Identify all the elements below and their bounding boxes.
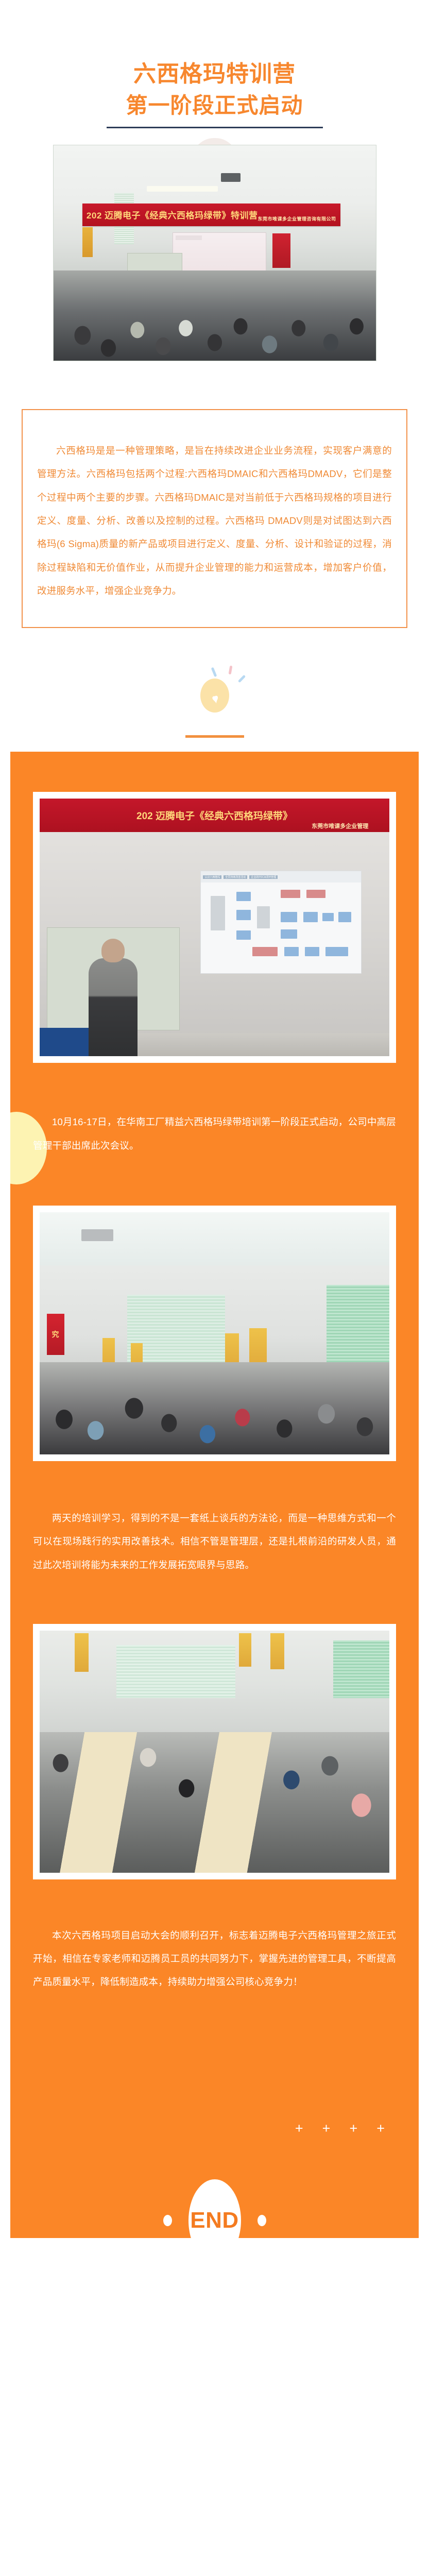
wall-poster <box>239 1633 251 1667</box>
sparkle-icon <box>238 675 246 683</box>
photo-4-frame <box>33 1624 396 1879</box>
banner-sub-text: 东莞市唯课多企业管理咨询有限公司 <box>258 215 336 222</box>
flow-node <box>252 947 278 956</box>
divider-rule <box>185 735 244 738</box>
presenter-figure <box>89 958 138 1056</box>
presenter-slide-photo: 202 迈腾电子《经典六西格玛绿带》 东莞市唯课多企业管理 认识六西格玛 全员持… <box>40 799 389 1056</box>
wall-poster <box>270 1633 284 1670</box>
window <box>116 1645 235 1698</box>
flow-node <box>257 906 270 929</box>
hero-header: 六西格玛特训营 第一阶段正式启动 <box>0 0 429 135</box>
end-badge: END <box>188 2179 241 2238</box>
audience-seats <box>40 1362 389 1454</box>
plus-icon: + <box>322 2122 331 2136</box>
poster-text: 究 <box>52 1329 59 1340</box>
intro-paragraph: 六西格玛是是一种管理策略，是旨在持续改进企业业务流程，实现客户满意的管理方法。六… <box>37 439 392 602</box>
audience-seats <box>54 270 376 361</box>
flow-node <box>236 930 251 940</box>
classroom-wide-photo: 202 迈腾电子《经典六西格玛绿带》特训营 东莞市唯课多企业管理咨询有限公司 <box>53 145 376 361</box>
flow-node <box>281 912 297 922</box>
flow-node <box>305 947 319 956</box>
body-paragraph-3: 本次六西格玛项目启动大会的顺利召开，标志着迈腾电子六西格玛管理之旅正式开始，相信… <box>33 1924 396 1994</box>
flow-node <box>303 912 318 922</box>
window-blinds <box>327 1285 389 1367</box>
sparkle-icon <box>228 666 232 675</box>
plus-decoration-row: + + + + <box>295 2122 385 2136</box>
flow-node <box>322 913 334 921</box>
body-paragraph-2: 两天的培训学习，得到的不是一套纸上谈兵的方法论，而是一种思维方式和一个可以在现场… <box>33 1506 396 1577</box>
red-banner: 202 迈腾电子《经典六西格玛绿带》特训营 东莞市唯课多企业管理咨询有限公司 <box>82 204 340 226</box>
flow-node <box>338 912 351 922</box>
intro-text-card: 六西格玛是是一种管理策略，是旨在持续改进企业业务流程，实现客户满意的管理方法。六… <box>22 409 407 628</box>
title-underline <box>107 127 323 128</box>
monitor <box>40 1028 96 1056</box>
heart-icon <box>207 691 223 707</box>
classroom-side-photo <box>40 1631 389 1873</box>
banner-main-text: 202 迈腾电子《经典六西格玛绿带》特训营 <box>87 208 258 221</box>
projector-icon <box>221 173 241 182</box>
red-banner: 202 迈腾电子《经典六西格玛绿带》 东莞市唯课多企业管理 <box>40 799 389 832</box>
ceiling-light <box>147 186 218 192</box>
plus-icon: + <box>349 2122 357 2136</box>
projector-icon <box>81 1229 113 1242</box>
flow-node <box>236 892 251 901</box>
photo-3-frame: 究 <box>33 1206 396 1461</box>
plus-icon: + <box>376 2122 385 2136</box>
orange-body-section: 202 迈腾电子《经典六西格玛绿带》 东莞市唯课多企业管理 认识六西格玛 全员持… <box>10 752 419 2238</box>
wall-poster-left <box>82 227 93 258</box>
window-blinds <box>333 1640 389 1699</box>
flow-node <box>306 890 325 898</box>
plus-icon: + <box>295 2122 303 2136</box>
dot-decoration-right <box>258 2215 266 2226</box>
photo-1-wrapper: 202 迈腾电子《经典六西格玛绿带》特训营 东莞市唯课多企业管理咨询有限公司 <box>0 145 429 361</box>
desks-and-attendees <box>40 1732 389 1873</box>
photo-2-frame: 202 迈腾电子《经典六西格玛绿带》 东莞市唯课多企业管理 认识六西格玛 全员持… <box>33 792 396 1063</box>
slide-tab-2: 企业的PDCA闭环管理 <box>249 875 278 879</box>
page-title-line1: 六西格玛特训营 <box>0 60 429 89</box>
end-block: + + + + END <box>10 1994 419 2238</box>
wall-poster: 究 <box>47 1314 64 1355</box>
pdca-slide: 认识六西格玛 全员持续改善活动 企业的PDCA闭环管理 <box>200 871 361 974</box>
flow-node <box>236 910 251 920</box>
flow-node <box>284 947 299 956</box>
banner-sub-text: 东莞市唯课多企业管理 <box>312 822 368 830</box>
flow-node <box>211 896 225 930</box>
article-page: 六西格玛特训营 第一阶段正式启动 202 迈腾电子《经典六西格玛绿带》特训营 东… <box>0 0 429 2576</box>
flow-node <box>325 947 348 956</box>
slide-tab-0: 认识六西格玛 <box>203 875 221 879</box>
flow-node <box>281 890 300 898</box>
section-divider <box>0 649 429 752</box>
audience-listening-photo: 究 <box>40 1212 389 1454</box>
wall-poster <box>75 1633 89 1672</box>
body-paragraph-1: 10月16-17日，在华南工厂精益六西格玛绿带培训第一阶段正式启动，公司中高层管… <box>33 1110 396 1157</box>
flow-node <box>281 929 297 939</box>
end-badge-row: END <box>163 2179 266 2238</box>
page-title-line2: 第一阶段正式启动 <box>0 92 429 120</box>
slide-tab-bar: 认识六西格玛 全员持续改善活动 企业的PDCA闭环管理 <box>201 871 361 883</box>
dot-decoration-left <box>163 2215 172 2226</box>
projection-screen <box>173 232 266 271</box>
banner-main-text: 202 迈腾电子《经典六西格玛绿带》 <box>136 808 293 822</box>
wall-poster-right <box>272 233 290 268</box>
slide-tab-1: 全员持续改善活动 <box>224 875 247 879</box>
sparkle-icon <box>211 667 217 677</box>
